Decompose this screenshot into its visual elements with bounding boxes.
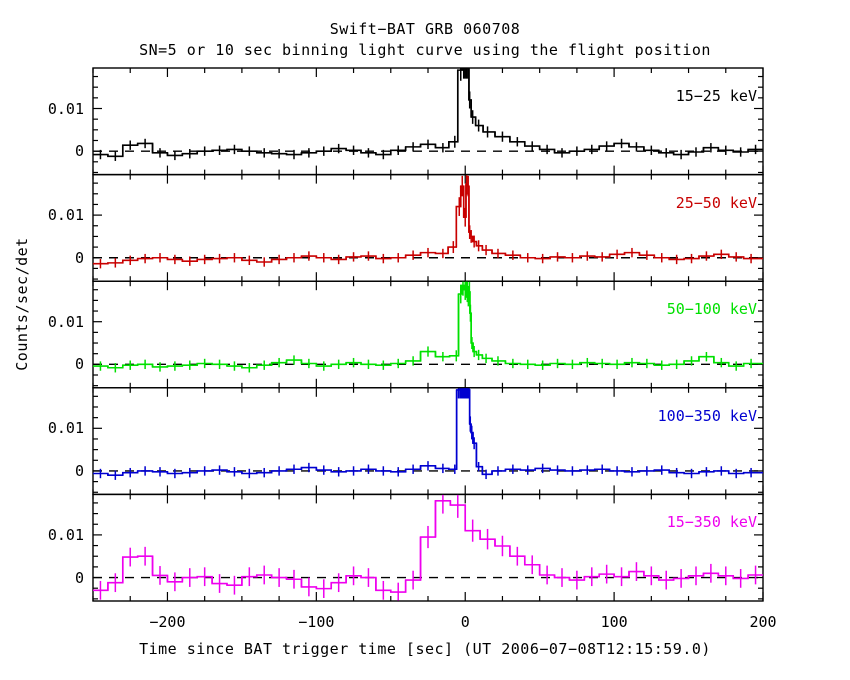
panel-5	[93, 494, 763, 601]
panel-3	[93, 281, 763, 388]
x-tick-label: −200	[117, 613, 217, 631]
x-tick-label: 0	[415, 613, 515, 631]
panel-4	[93, 388, 763, 495]
panel-energy-label-1: 15−25 keV	[676, 87, 757, 105]
panel-frame	[93, 175, 763, 282]
panel-2	[93, 175, 763, 282]
y-tick-label: 0	[0, 249, 84, 267]
y-tick-label: 0.01	[0, 313, 84, 331]
y-tick-label: 0	[0, 462, 84, 480]
y-tick-label: 0.01	[0, 526, 84, 544]
y-tick-label: 0	[0, 142, 84, 160]
panel-1	[93, 68, 763, 175]
panel-frame	[93, 68, 763, 175]
panel-frame	[93, 281, 763, 388]
panel-energy-label-5: 15−350 keV	[667, 513, 757, 531]
panel-energy-label-4: 100−350 keV	[658, 407, 757, 425]
y-tick-label: 0.01	[0, 100, 84, 118]
panel-energy-label-3: 50−100 keV	[667, 300, 757, 318]
x-tick-label: −100	[266, 613, 366, 631]
panel-frame	[93, 388, 763, 495]
panel-energy-label-2: 25−50 keV	[676, 194, 757, 212]
lightcurve-figure: Swift−BAT GRB 060708 SN=5 or 10 sec binn…	[0, 0, 850, 680]
x-tick-label: 200	[713, 613, 813, 631]
y-tick-label: 0	[0, 569, 84, 587]
y-tick-label: 0	[0, 355, 84, 373]
y-tick-label: 0.01	[0, 419, 84, 437]
y-tick-label: 0.01	[0, 206, 84, 224]
x-tick-label: 100	[564, 613, 664, 631]
